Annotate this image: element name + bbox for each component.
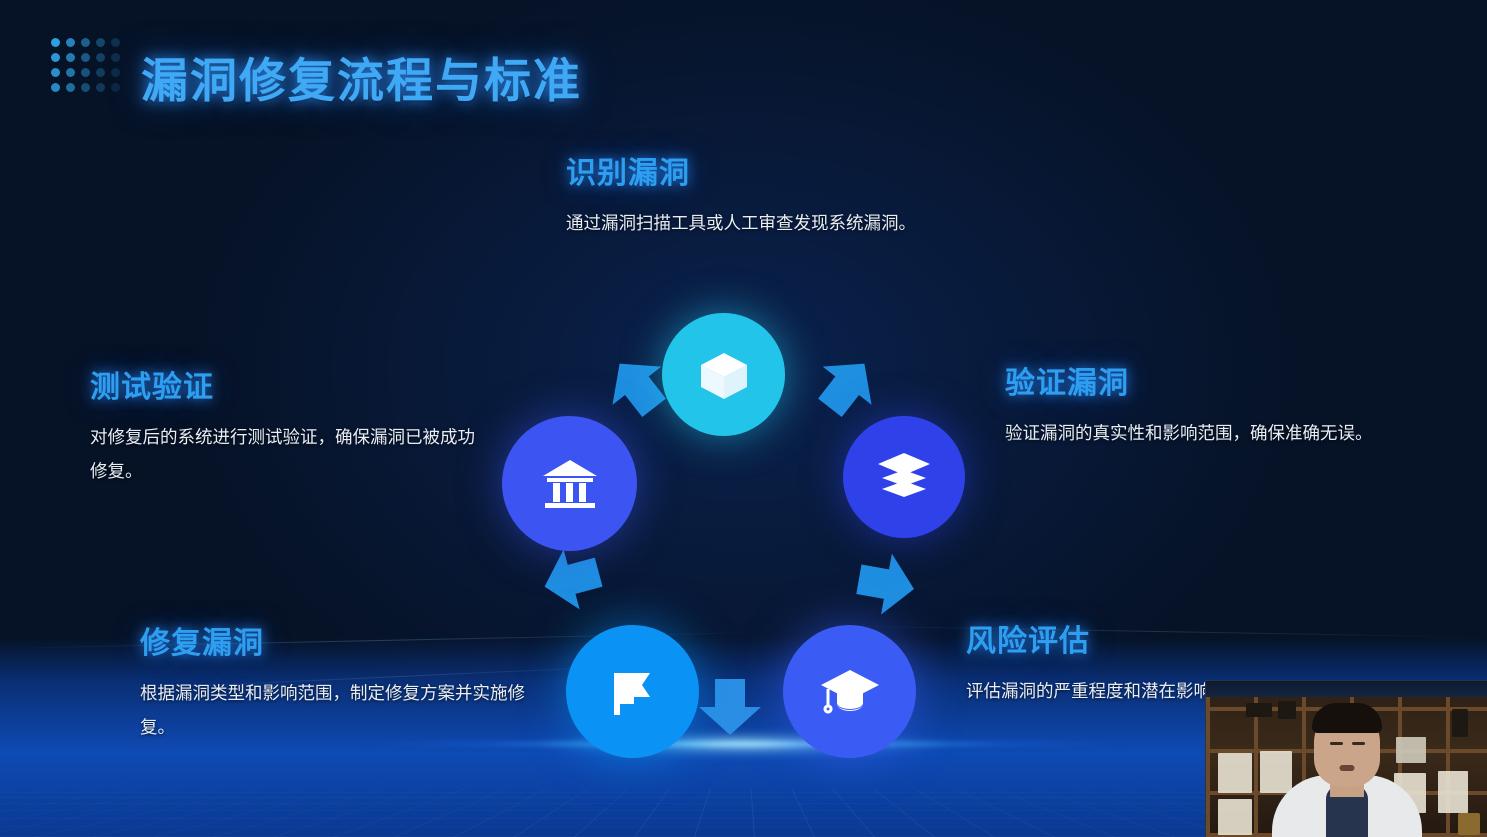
video-top-edge — [1206, 681, 1487, 697]
graduation-cap-icon — [819, 666, 881, 718]
page-title: 漏洞修复流程与标准 — [141, 42, 582, 111]
presentation-slide: 漏洞修复流程与标准 识别漏洞 通过漏洞扫描工具或人工审查发现系统漏洞。 验证漏洞… — [0, 0, 1487, 837]
layers-icon — [876, 451, 932, 503]
step-body-test: 对修复后的系统进行测试验证，确保漏洞已被成功修复。 — [90, 420, 490, 488]
step-heading-test: 测试验证 — [90, 362, 490, 406]
cycle-node-identify[interactable] — [662, 313, 785, 436]
step-body-verify: 验证漏洞的真实性和影响范围，确保准确无误。 — [1005, 416, 1397, 450]
step-body-identify: 通过漏洞扫描工具或人工审查发现系统漏洞。 — [566, 206, 962, 240]
cycle-node-verify[interactable] — [843, 416, 965, 538]
presenter-video[interactable] — [1205, 680, 1487, 837]
step-block-verify: 验证漏洞 验证漏洞的真实性和影响范围，确保准确无误。 — [1005, 358, 1397, 450]
cycle-diagram — [480, 300, 1000, 770]
presenter-figure — [1272, 732, 1422, 837]
bank-icon — [540, 457, 600, 511]
step-block-identify: 识别漏洞 通过漏洞扫描工具或人工审查发现系统漏洞。 — [566, 148, 962, 240]
step-heading-identify: 识别漏洞 — [566, 148, 962, 192]
arrow-icon — [695, 670, 765, 737]
cycle-node-risk[interactable] — [783, 625, 916, 758]
cycle-node-test[interactable] — [502, 416, 637, 551]
dot-grid-icon — [51, 38, 126, 98]
cycle-node-repair[interactable] — [566, 625, 699, 758]
step-heading-risk: 风险评估 — [966, 616, 1386, 660]
arrow-icon — [844, 543, 922, 624]
cube-icon — [696, 347, 752, 403]
flag-icon — [604, 663, 662, 721]
step-heading-verify: 验证漏洞 — [1005, 358, 1397, 402]
step-block-test: 测试验证 对修复后的系统进行测试验证，确保漏洞已被成功修复。 — [90, 362, 490, 488]
